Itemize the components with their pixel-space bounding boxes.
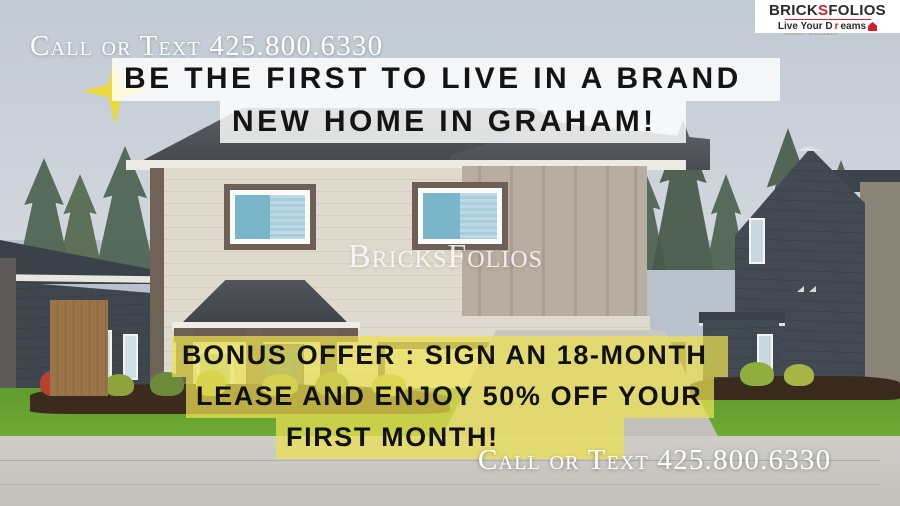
bonus-offer-banner: BONUS OFFER : SIGN AN 18-MONTH LEASE AND… (0, 336, 900, 459)
logo-text-s: S (818, 2, 828, 19)
headline-banner: BE THE FIRST TO LIVE IN A BRAND NEW HOME… (0, 58, 900, 143)
tagline-post: eams (840, 22, 866, 32)
advertisement-flyer: BRICKSFOLIOS PROPERTY MANAGEMENT Live Yo… (0, 0, 900, 506)
upper-window-right (418, 188, 502, 244)
bonus-line-1: BONUS OFFER : SIGN AN 18-MONTH (172, 336, 728, 377)
bonus-line-2: LEASE AND ENJOY 50% OFF YOUR (186, 377, 714, 418)
logo-tagline: Live Your Dreams (778, 22, 877, 32)
logo-subtitle: PROPERTY MANAGEMENT (785, 32, 839, 36)
headline-line-1: BE THE FIRST TO LIVE IN A BRAND (112, 58, 780, 101)
logo-divider: PROPERTY MANAGEMENT (785, 19, 871, 20)
watermark: BricksFolios (348, 238, 543, 276)
brand-logo[interactable]: BRICKSFOLIOS PROPERTY MANAGEMENT Live Yo… (755, 0, 900, 33)
upper-window-left (230, 190, 310, 244)
house-icon (868, 22, 877, 31)
tagline-r: r (835, 22, 839, 32)
tagline-pre: Live Your D (778, 22, 833, 32)
phone-cta-bottom[interactable]: Call or Text 425.800.6330 (478, 444, 831, 477)
logo-text-folios: FOLIOS (828, 2, 886, 19)
logo-text-brick: BRICK (769, 2, 818, 19)
logo-wordmark: BRICKSFOLIOS (769, 3, 886, 18)
headline-line-2: NEW HOME IN GRAHAM! (220, 101, 686, 144)
